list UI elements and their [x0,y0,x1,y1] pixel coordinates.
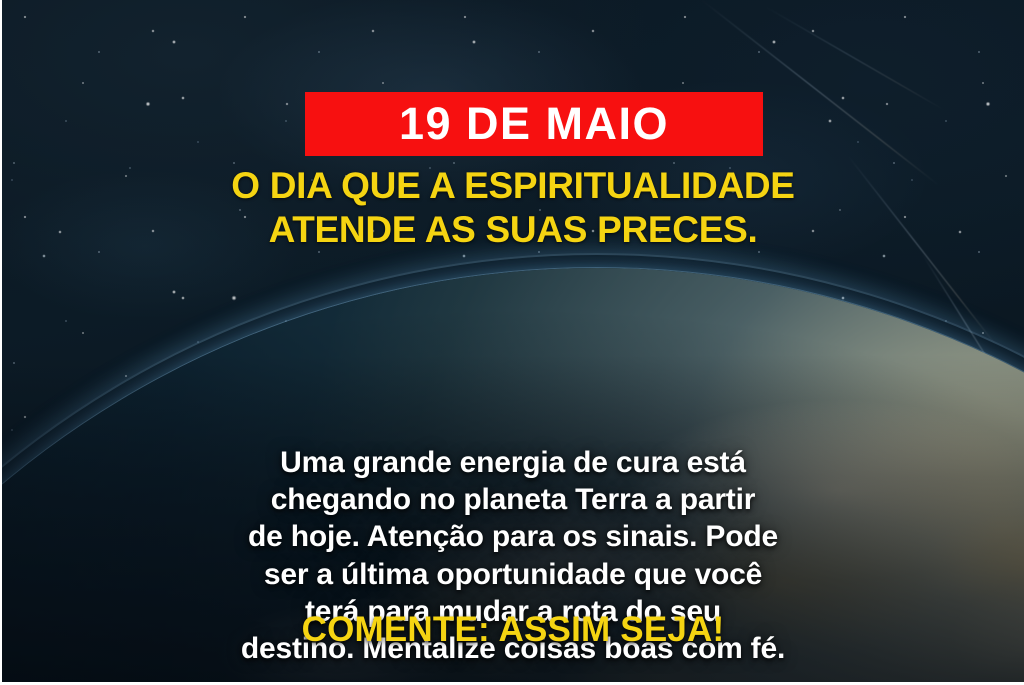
poster-canvas: 19 DE MAIO O DIA QUE A ESPIRITUALIDADE A… [0,0,1024,685]
poster-content: 19 DE MAIO O DIA QUE A ESPIRITUALIDADE A… [2,0,1024,682]
headline-line-1: O DIA QUE A ESPIRITUALIDADE [2,164,1024,208]
body-line-3: de hoje. Atenção para os sinais. Pode [52,518,974,555]
call-to-action-label: COMENTE: ASSIM SEJA! [2,612,1024,647]
headline: O DIA QUE A ESPIRITUALIDADE ATENDE AS SU… [2,164,1024,251]
date-banner: 19 DE MAIO [305,92,763,156]
date-banner-label: 19 DE MAIO [399,101,669,148]
headline-line-2: ATENDE AS SUAS PRECES. [2,208,1024,252]
body-line-1: Uma grande energia de cura está [52,444,974,481]
body-line-4: ser a última oportunidade que você [52,556,974,593]
body-line-2: chegando no planeta Terra a partir [52,481,974,518]
